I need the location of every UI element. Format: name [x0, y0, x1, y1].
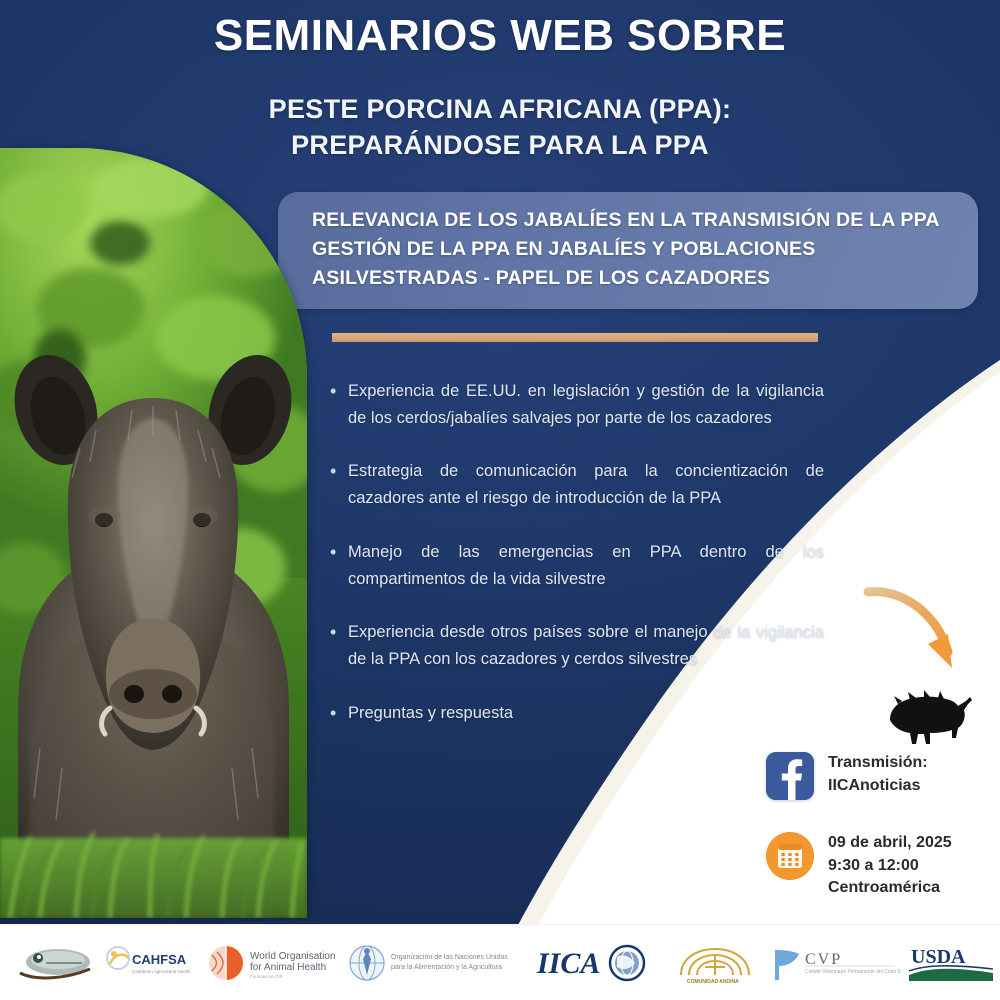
schedule-date: 09 de abril, 2025 — [828, 832, 952, 855]
broadcast-text: Transmisión: IICAnoticias — [828, 752, 928, 797]
bullet-dot-icon: • — [330, 700, 348, 727]
comunidad-andina-logo-text: COMUNIDAD ANDINA — [687, 979, 739, 985]
gold-divider — [332, 333, 818, 342]
title-block: SEMINARIOS WEB SOBRE PESTE PORCINA AFRIC… — [150, 12, 850, 164]
cahfsa-logo-text: CAHFSA — [132, 952, 187, 967]
cahfsa-logo: CAHFSA Caribbean Agricultural Health — [98, 942, 202, 984]
usda-logo: USDA — [903, 941, 999, 985]
page-subtitle: PESTE PORCINA AFRICANA (PPA): PREPARÁNDO… — [150, 92, 850, 163]
ospa-logo — [14, 943, 98, 983]
subtitle-line-1: PESTE PORCINA AFRICANA (PPA): — [150, 92, 850, 128]
svg-text:Founded as OIE: Founded as OIE — [250, 974, 283, 979]
iica-logo: IICA — [533, 941, 663, 985]
broadcast-info-row: Transmisión: IICAnoticias — [766, 752, 928, 800]
woah-logo-line2: for Animal Health — [250, 962, 326, 973]
fao-logo-line1: Organización de las Naciones Unidas — [391, 954, 508, 961]
bullet-dot-icon: • — [330, 458, 348, 511]
fao-logo-line2: para la Alimentación y la Agricultura — [391, 964, 502, 971]
bullet-dot-icon: • — [330, 378, 348, 431]
list-item: • Preguntas y respuesta — [330, 700, 824, 727]
comunidad-andina-logo: COMUNIDAD ANDINA — [663, 941, 767, 985]
broadcast-label: Transmisión: — [828, 752, 928, 775]
iica-logo-text: IICA — [536, 947, 600, 980]
list-item: • Experiencia desde otros países sobre e… — [330, 619, 824, 672]
facebook-icon[interactable] — [766, 752, 814, 800]
wild-boar-photo — [0, 148, 307, 918]
list-item-text: Experiencia de EE.UU. en legislación y g… — [348, 378, 824, 431]
fao-logo: Organización de las Naciones Unidas para… — [342, 941, 517, 985]
boar-silhouette-icon — [884, 686, 976, 748]
session-topics-text: RELEVANCIA DE LOS JABALÍES EN LA TRANSMI… — [312, 206, 952, 293]
list-item-text: Preguntas y respuesta — [348, 700, 824, 727]
schedule-info-row: 09 de abril, 2025 9:30 a 12:00 Centroamé… — [766, 832, 952, 900]
bullet-dot-icon: • — [330, 619, 348, 672]
agenda-list: • Experiencia de EE.UU. en legislación y… — [330, 378, 824, 754]
list-item-text: Experiencia desde otros países sobre el … — [348, 619, 824, 672]
woah-logo: World Organisation for Animal Health Fou… — [202, 941, 342, 985]
cvp-logo: CVP Comité Veterinario Permanente del Co… — [767, 942, 903, 984]
woah-logo-line1: World Organisation — [250, 951, 335, 962]
list-item: • Experiencia de EE.UU. en legislación y… — [330, 378, 824, 431]
subtitle-line-2: PREPARÁNDOSE PARA LA PPA — [150, 128, 850, 164]
page-title: SEMINARIOS WEB SOBRE — [150, 12, 850, 60]
poster-root: SEMINARIOS WEB SOBRE PESTE PORCINA AFRIC… — [0, 0, 1000, 1000]
partner-logo-strip: CAHFSA Caribbean Agricultural Health Wor… — [0, 924, 1000, 1000]
usda-logo-text: USDA — [911, 946, 966, 968]
cvp-logo-text: CVP — [805, 951, 842, 968]
schedule-timezone: Centroamérica — [828, 877, 952, 900]
svg-text:Comité Veterinario Permanente: Comité Veterinario Permanente del Cono S… — [805, 969, 901, 975]
curved-down-arrow-icon — [862, 578, 972, 688]
session-topics-banner: RELEVANCIA DE LOS JABALÍES EN LA TRANSMI… — [278, 192, 978, 309]
svg-text:Caribbean Agricultural Health: Caribbean Agricultural Health — [132, 969, 191, 974]
bullet-dot-icon: • — [330, 539, 348, 592]
list-item-text: Estrategia de comunicación para la conci… — [348, 458, 824, 511]
broadcast-channel: IICAnoticias — [828, 775, 928, 798]
schedule-time: 9:30 a 12:00 — [828, 855, 952, 878]
list-item-text: Manejo de las emergencias en PPA dentro … — [348, 539, 824, 592]
schedule-text: 09 de abril, 2025 9:30 a 12:00 Centroamé… — [828, 832, 952, 900]
list-item: • Manejo de las emergencias en PPA dentr… — [330, 539, 824, 592]
calendar-icon — [766, 832, 814, 880]
list-item: • Estrategia de comunicación para la con… — [330, 458, 824, 511]
